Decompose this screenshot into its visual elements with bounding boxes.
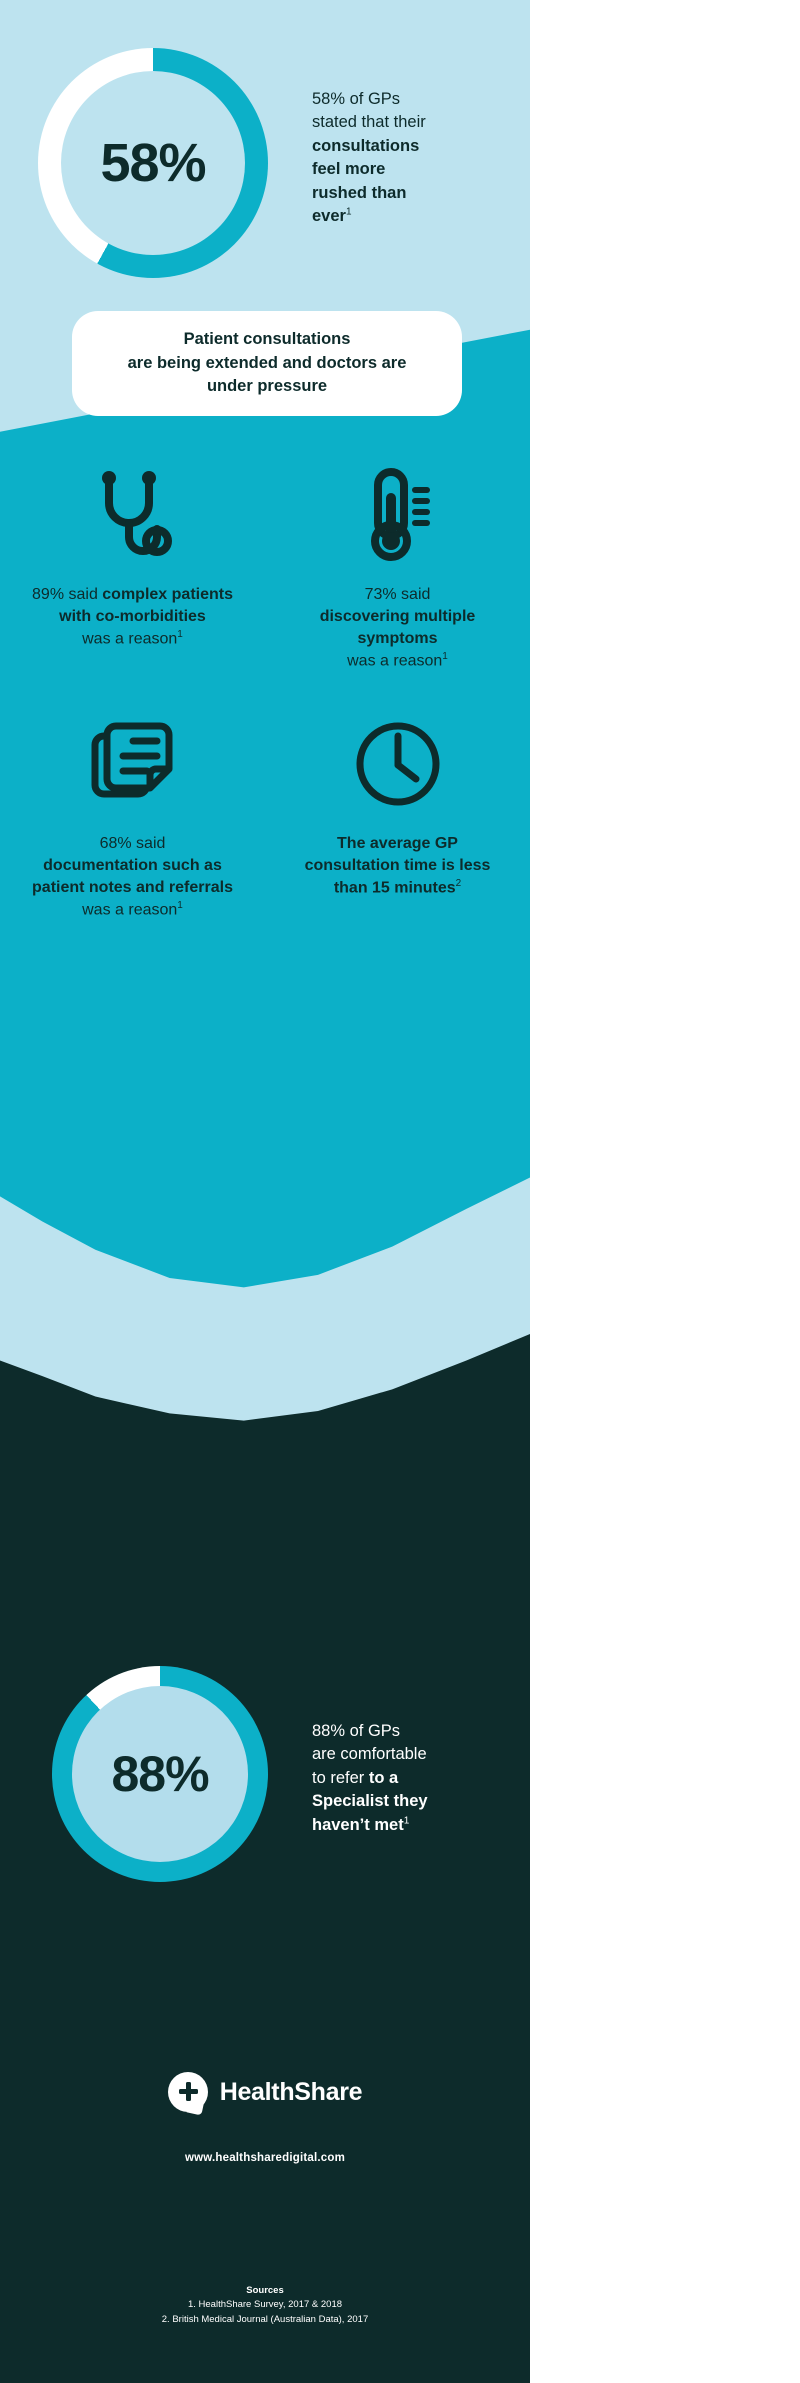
bottom-line-4: to a [369, 1769, 398, 1787]
stat-2-lead: 73% said [365, 586, 431, 603]
callout-card: Patient consultations are being extended… [72, 311, 462, 416]
stat-1-footnote: 1 [177, 629, 183, 640]
hero-line-2: stated that their [312, 113, 426, 131]
logo-plus-horizontal [179, 2089, 198, 2094]
stat-1-lead: 89% said [32, 586, 102, 603]
hero-copy: 58% of GPs stated that their consultatio… [312, 88, 492, 229]
logo-wordmark: HealthShare [220, 2078, 363, 2107]
stat-3-bold: documentation such as patient notes and … [32, 857, 233, 896]
donut-88-value: 88% [52, 1666, 268, 1882]
bottom-line-3: to refer [312, 1769, 369, 1787]
bottom-line-2: are comfortable [312, 1745, 427, 1763]
sources-heading: Sources [0, 2284, 530, 2298]
stat-4-bold: The average GP consultation time is less… [305, 835, 491, 896]
stat-1-tail: was a reason [82, 630, 177, 647]
callout-text: Patient consultations are being extended… [106, 328, 429, 400]
thermometer-icon [358, 460, 438, 570]
callout-line-2: are being extended and doctors are [128, 354, 407, 372]
stat-caption-1: 89% said complex patients with co-morbid… [25, 584, 240, 651]
stat-4-footnote: 2 [456, 878, 462, 889]
hero-line-3: consultations [312, 137, 419, 155]
stethoscope-icon [87, 460, 179, 570]
clock-icon [352, 709, 444, 819]
stat-cell-documentation: 68% said documentation such as patient n… [0, 709, 265, 922]
stat-caption-4: The average GP consultation time is less… [290, 833, 505, 900]
callout-line-1: Patient consultations [184, 330, 351, 348]
stat-2-bold: discovering multiple symptoms [320, 608, 476, 647]
stat-3-footnote: 1 [177, 900, 183, 911]
bottom-line-1: 88% of GPs [312, 1722, 400, 1740]
bottom-line-6: haven’t met [312, 1816, 404, 1834]
hero-line-6: ever [312, 207, 346, 225]
stat-caption-2: 73% said discovering multiple symptoms w… [290, 584, 505, 673]
documents-icon [87, 709, 179, 819]
stat-cell-multiple-symptoms: 73% said discovering multiple symptoms w… [265, 460, 530, 673]
stat-cell-consultation-time: The average GP consultation time is less… [265, 709, 530, 922]
stat-cell-complex-patients: 89% said complex patients with co-morbid… [0, 460, 265, 673]
website-url[interactable]: www.healthsharedigital.com [0, 2152, 530, 2164]
stats-grid: 89% said complex patients with co-morbid… [0, 460, 530, 921]
stat-3-lead: 68% said [100, 835, 166, 852]
hero-line-5: rushed than [312, 184, 406, 202]
stat-3-tail: was a reason [82, 901, 177, 918]
callout-line-3: under pressure [207, 377, 327, 395]
stat-caption-3: 68% said documentation such as patient n… [25, 833, 240, 922]
source-item-2: 2. British Medical Journal (Australian D… [0, 2313, 530, 2327]
bottom-copy: 88% of GPs are comfortable to refer to a… [312, 1720, 497, 1837]
infographic-canvas: 58% 58% of GPs stated that their consult… [0, 0, 530, 2383]
stat-2-tail: was a reason [347, 653, 442, 670]
bottom-line-5: Specialist they [312, 1792, 428, 1810]
sources-block: Sources 1. HealthShare Survey, 2017 & 20… [0, 2284, 530, 2327]
stats-row-2: 68% said documentation such as patient n… [0, 709, 530, 922]
donut-chart-58: 58% [38, 48, 268, 278]
donut-chart-88: 88% [52, 1666, 268, 1882]
hero-line-4: feel more [312, 160, 385, 178]
brand-logo[interactable]: HealthShare [0, 2072, 530, 2112]
donut-58-value: 58% [38, 48, 268, 278]
stats-row-1: 89% said complex patients with co-morbid… [0, 460, 530, 673]
hero-footnote: 1 [346, 207, 352, 218]
bottom-footnote: 1 [404, 1815, 410, 1826]
stat-2-footnote: 1 [442, 651, 448, 662]
hero-line-1: 58% of GPs [312, 90, 400, 108]
healthshare-plus-bubble-icon [168, 2072, 208, 2112]
source-item-1: 1. HealthShare Survey, 2017 & 2018 [0, 2298, 530, 2312]
